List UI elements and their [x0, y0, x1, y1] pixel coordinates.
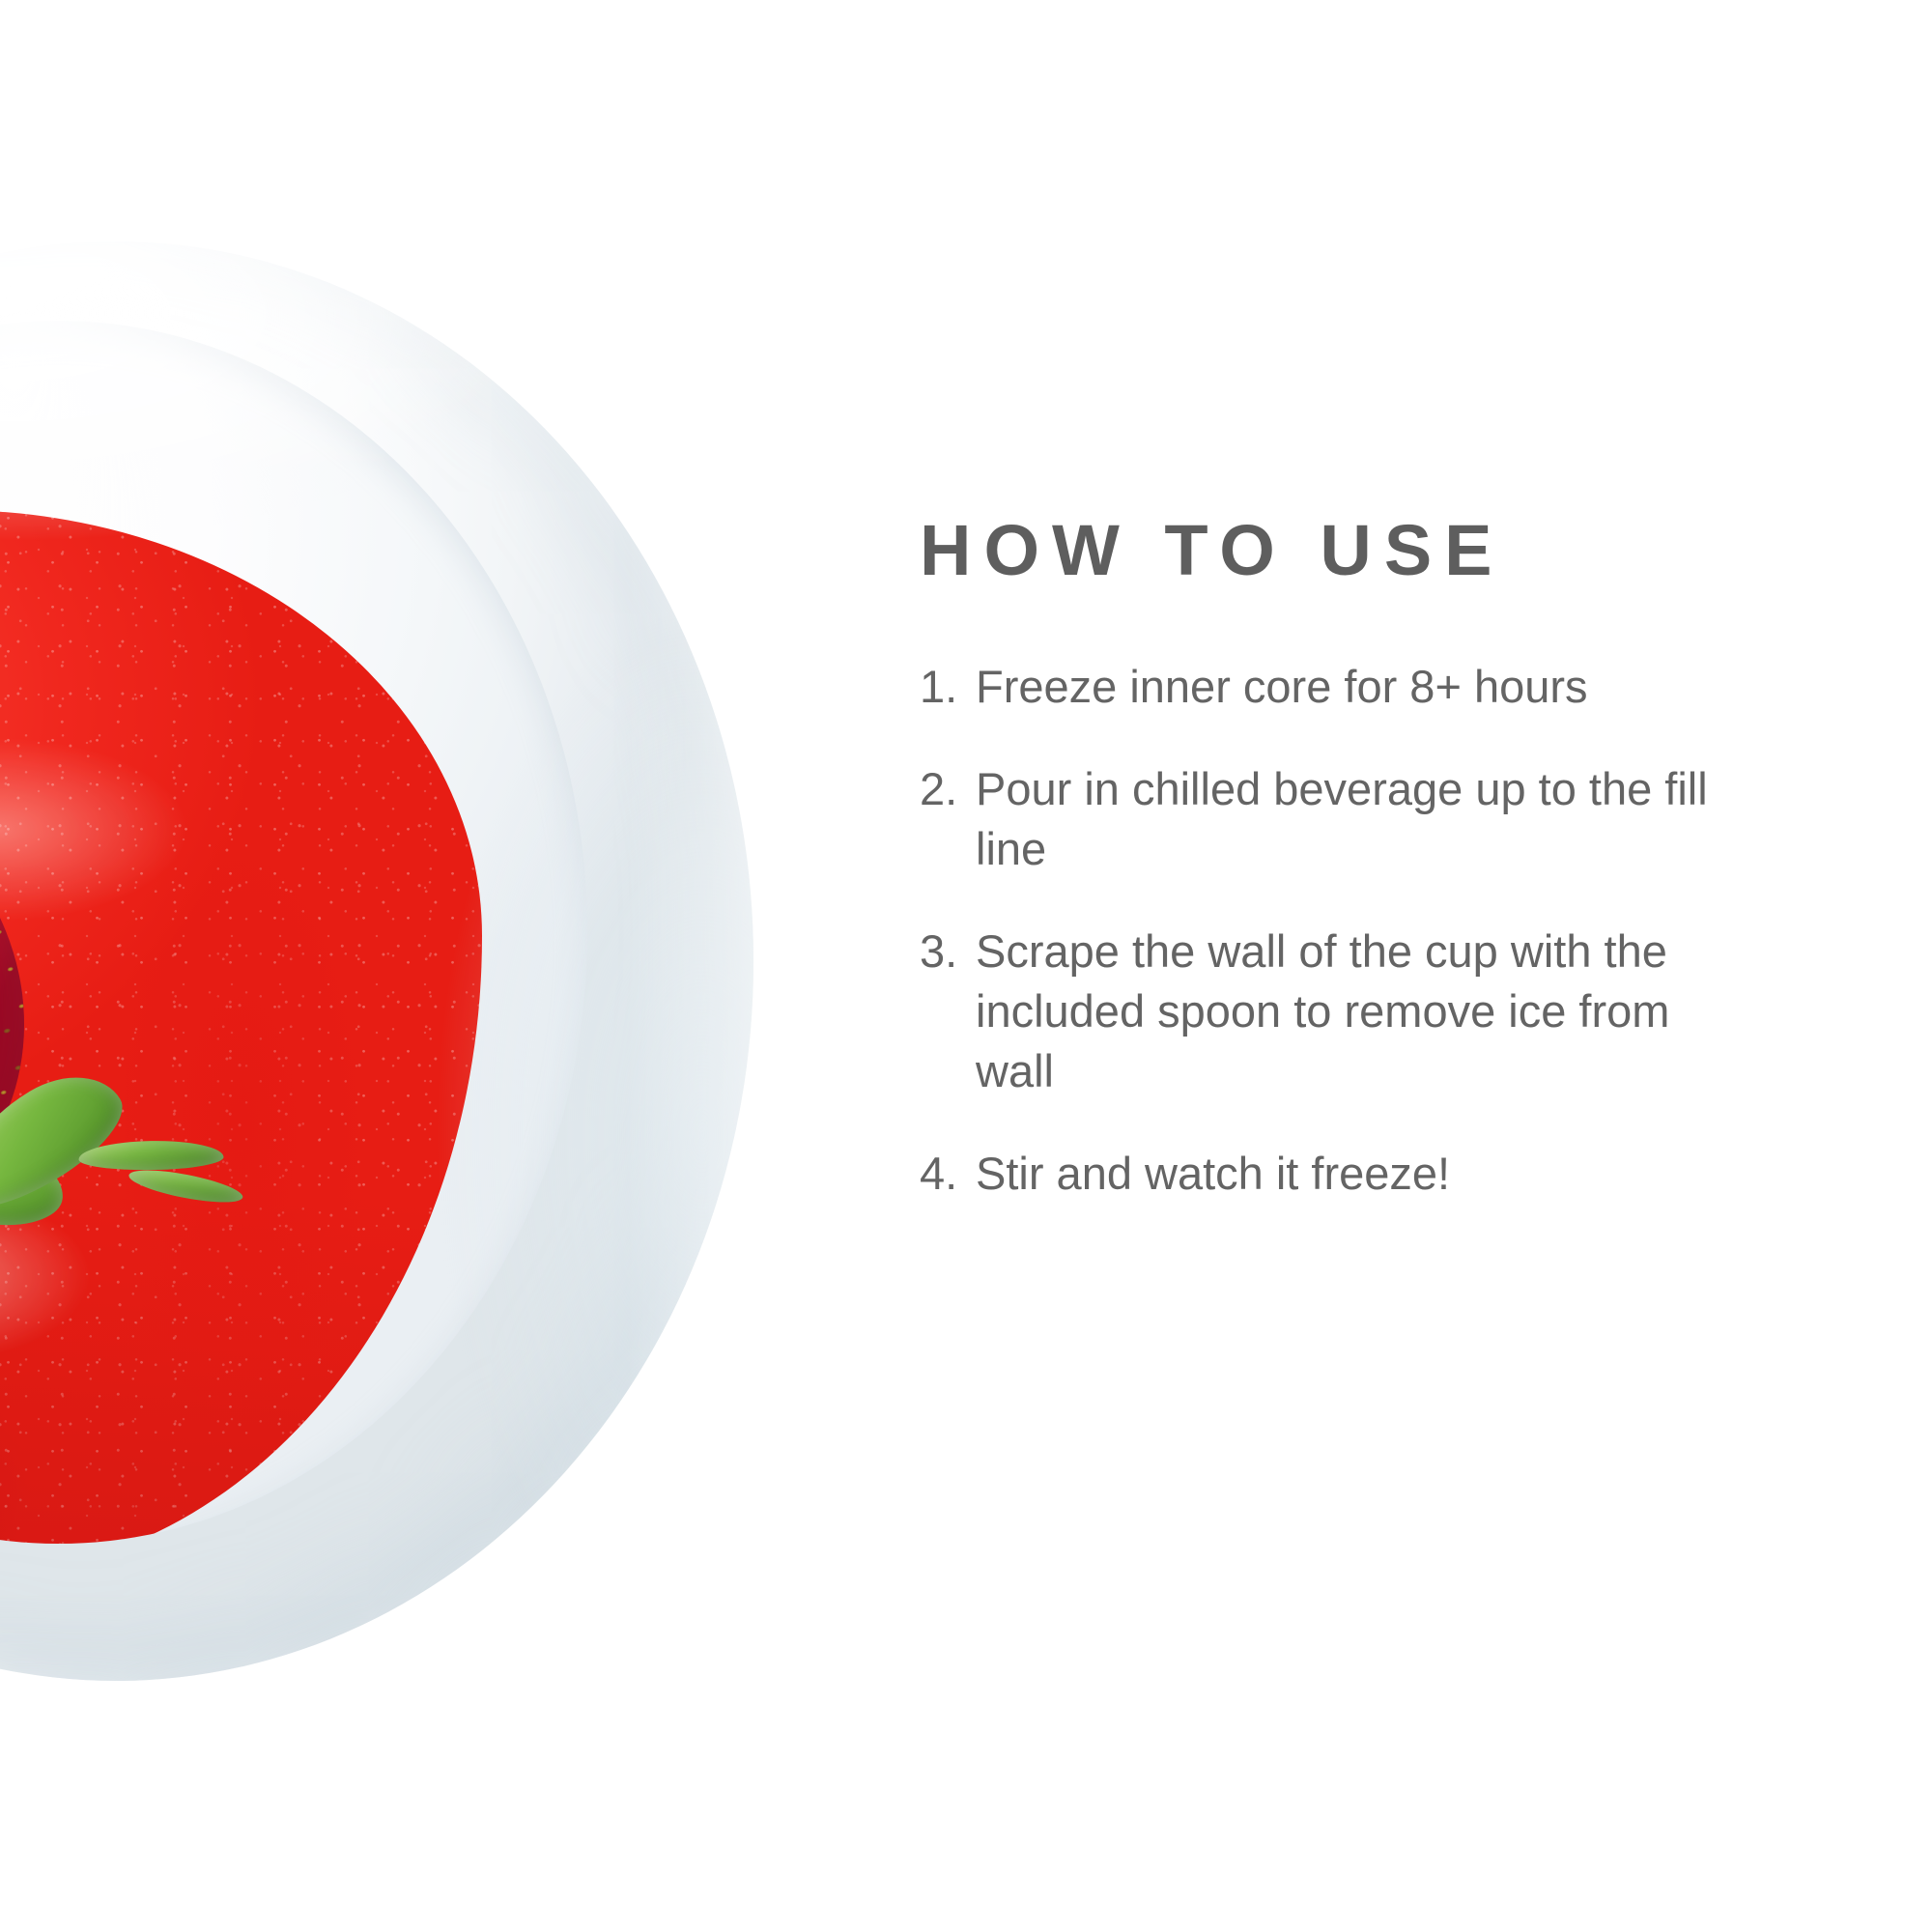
step-text: Pour in chilled beverage up to the fill …: [976, 759, 1739, 879]
list-item: 3. Scrape the wall of the cup with the i…: [920, 922, 1770, 1101]
product-photo: [0, 0, 869, 1932]
list-item: 1. Freeze inner core for 8+ hours: [920, 657, 1770, 717]
step-text: Freeze inner core for 8+ hours: [976, 657, 1739, 717]
steps-list: 1. Freeze inner core for 8+ hours 2. Pou…: [920, 657, 1770, 1246]
how-to-use-page: HOW TO USE 1. Freeze inner core for 8+ h…: [0, 0, 1932, 1932]
list-item: 4. Stir and watch it freeze!: [920, 1144, 1770, 1204]
page-title: HOW TO USE: [920, 515, 1505, 586]
bowl-cavity: [0, 321, 587, 1545]
step-text: Stir and watch it freeze!: [976, 1144, 1739, 1204]
step-number: 4.: [920, 1144, 976, 1204]
step-text: Scrape the wall of the cup with the incl…: [976, 922, 1739, 1101]
step-number: 1.: [920, 657, 976, 717]
step-number: 3.: [920, 922, 976, 981]
step-number: 2.: [920, 759, 976, 819]
bowl-graphic: [0, 241, 753, 1681]
list-item: 2. Pour in chilled beverage up to the fi…: [920, 759, 1770, 879]
instructions-panel: HOW TO USE 1. Freeze inner core for 8+ h…: [920, 0, 1886, 1932]
